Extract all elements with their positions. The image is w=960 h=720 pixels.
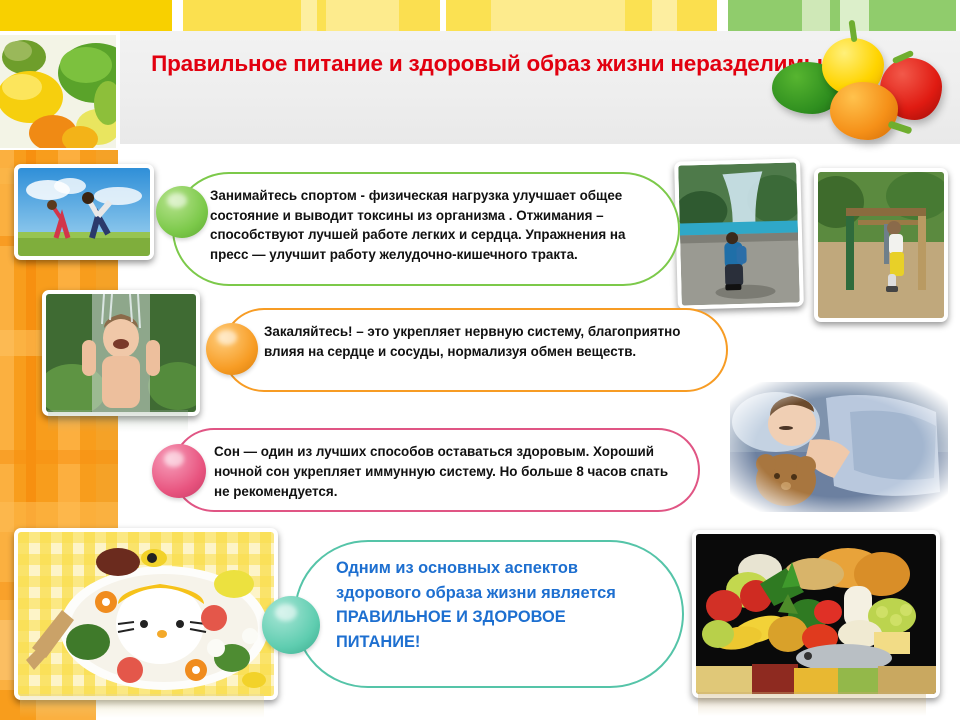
- top-band-segment-4: [317, 0, 326, 31]
- photo-healthy-foods: [692, 530, 940, 698]
- bullet-pink: [152, 444, 206, 498]
- photo-boy-monkey-bars: [814, 168, 948, 322]
- bullet-orange: [206, 323, 258, 375]
- photo-child-shower: [42, 290, 200, 416]
- page-title: Правильное питание и здоровый образ жизн…: [140, 48, 840, 79]
- photo-children-exercising: [14, 164, 154, 260]
- top-band-segment-8: [446, 0, 491, 31]
- callout-nutrition-text: Одним из основных аспектов здорового обр…: [336, 556, 654, 654]
- boy-rollerblading-artwork: [678, 162, 800, 305]
- bell-peppers-cluster: [770, 22, 960, 152]
- top-band-segment-1: [172, 0, 183, 31]
- reflection-foods: [698, 692, 926, 716]
- bento-lunch-artwork: [18, 532, 274, 696]
- top-band-segment-13: [717, 0, 728, 31]
- boy-monkey-bars-artwork: [818, 172, 944, 318]
- callout-hardening-text: Закаляйтесь! – это укрепляет нервную сис…: [264, 322, 712, 362]
- fruit-basket-artwork: [0, 35, 116, 148]
- top-band-segment-2: [183, 0, 301, 31]
- callout-sleep-text: Сон — один из лучших способов оставаться…: [214, 442, 684, 502]
- photo-bento-lunch: [14, 528, 278, 700]
- photo-fruit-basket: [0, 35, 116, 148]
- top-band-segment-6: [399, 0, 441, 31]
- top-band-segment-11: [652, 0, 677, 31]
- orange-pepper-stem: [888, 120, 913, 134]
- orange-pepper-icon: [830, 82, 898, 140]
- top-band-segment-3: [301, 0, 317, 31]
- top-band-segment-5: [326, 0, 398, 31]
- photo-child-sleeping: [730, 382, 948, 512]
- reflection-shower: [48, 410, 188, 432]
- reflection-bento: [20, 694, 264, 718]
- callout-sport-text: Занимайтесь спортом - физическая нагрузк…: [210, 186, 660, 264]
- children-exercising-artwork: [18, 168, 150, 256]
- photo-boy-rollerblading: [674, 158, 804, 309]
- child-shower-artwork: [46, 294, 196, 412]
- bullet-green: [156, 186, 208, 238]
- child-sleeping-artwork: [730, 382, 948, 512]
- top-band-segment-12: [677, 0, 717, 31]
- bullet-teal: [262, 596, 320, 654]
- top-band-segment-9: [491, 0, 625, 31]
- top-band-segment-0: [0, 0, 172, 31]
- top-band-segment-10: [625, 0, 652, 31]
- slide-root: Правильное питание и здоровый образ жизн…: [0, 0, 960, 720]
- healthy-foods-artwork: [696, 534, 936, 694]
